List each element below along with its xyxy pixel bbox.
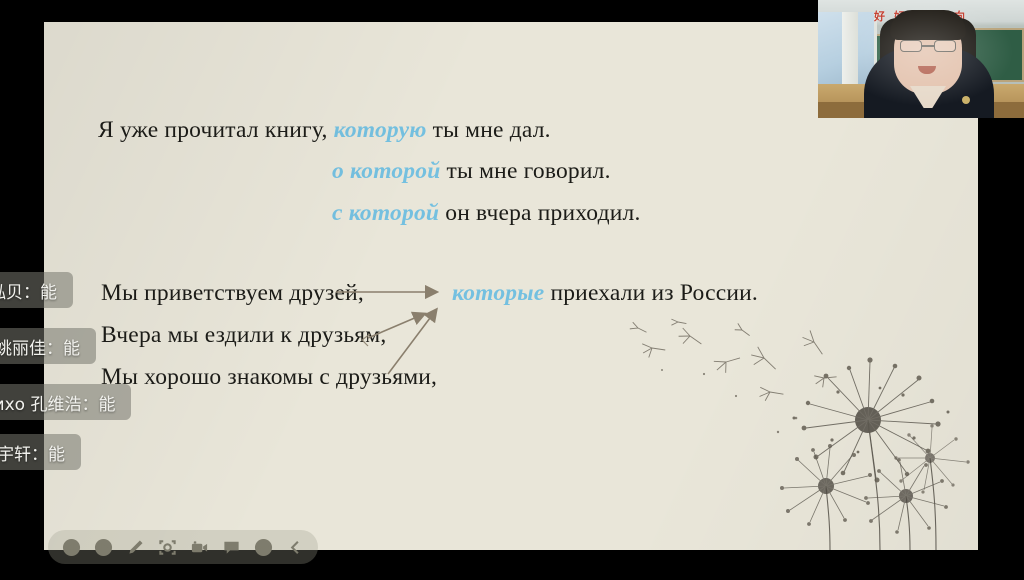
chat-message: 冯泓贝：能: [0, 272, 73, 308]
relative-pronoun-kotorye: которые: [452, 280, 544, 306]
slide-line-2: о которой ты мне говорил.: [332, 158, 611, 185]
previous-slide-button[interactable]: [56, 532, 86, 562]
chat-separator: ：: [81, 390, 98, 415]
chat-message-text: 能: [98, 390, 115, 415]
chat-message-text: 能: [48, 440, 65, 465]
relative-pronoun-s-kotoroy: с которой: [332, 200, 439, 226]
line-1-suffix: ты мне дал.: [427, 117, 551, 143]
chat-separator: ：: [31, 440, 48, 465]
chat-bubble-icon: [222, 538, 241, 557]
dandelion-decoration: [618, 300, 978, 550]
webcam-glow: [818, 0, 1024, 118]
collapse-button[interactable]: [280, 532, 310, 562]
chat-message: 祝宇轩：能: [0, 434, 81, 470]
next-slide-button[interactable]: [88, 532, 118, 562]
chat-sender-name: онвихо 孔维浩: [0, 390, 81, 415]
presenter-webcam[interactable]: 好 好 天 天 向: [818, 0, 1024, 118]
chat-sender-name: 冯泓贝: [0, 278, 23, 303]
chat-separator: ：: [46, 334, 63, 359]
slide-line-5: Вчера мы ездили к друзьям,: [101, 322, 386, 349]
chat-message-text: 能: [63, 334, 80, 359]
screen-root: Я уже прочитал книгу, которую ты мне дал…: [0, 0, 1024, 580]
slide-line-1: Я уже прочитал книгу, которую ты мне дал…: [98, 117, 551, 144]
next-icon: [94, 538, 113, 557]
ellipsis-circle-icon: [254, 538, 273, 557]
chat-sender-name: 祝宇轩: [0, 440, 31, 465]
slide-line-4: Мы приветствуем друзей,: [101, 280, 364, 307]
video-camera-icon: [190, 538, 209, 557]
pencil-icon: [126, 538, 145, 557]
result-clause-suffix: приехали из России.: [544, 280, 758, 306]
focus-frame-icon: [158, 538, 177, 557]
focus-button[interactable]: [152, 532, 182, 562]
chevron-left-icon: [286, 538, 305, 557]
slide-line-6: Мы хорошо знакомы с друзьями,: [101, 364, 437, 391]
slide-result-clause: которые приехали из России.: [452, 280, 758, 307]
relative-pronoun-o-kotoroy: о которой: [332, 158, 440, 184]
chat-separator: ：: [23, 278, 40, 303]
line-3-suffix: он вчера приходил.: [439, 200, 640, 226]
chat-message: онвихо 孔维浩：能: [0, 384, 131, 420]
video-button[interactable]: [184, 532, 214, 562]
line-2-suffix: ты мне говорил.: [440, 158, 610, 184]
line-1-prefix: Я уже прочитал книгу,: [98, 117, 334, 143]
annotate-button[interactable]: [120, 532, 150, 562]
chat-sender-name: 班姚丽佳: [0, 334, 46, 359]
relative-pronoun-kotoruyu: которую: [334, 117, 427, 143]
more-button[interactable]: [248, 532, 278, 562]
chat-button[interactable]: [216, 532, 246, 562]
slide-line-3: с которой он вчера приходил.: [332, 200, 641, 227]
playback-toolbar: [48, 530, 318, 564]
chat-message-text: 能: [40, 278, 57, 303]
chat-message: 班姚丽佳：能: [0, 328, 96, 364]
previous-icon: [62, 538, 81, 557]
